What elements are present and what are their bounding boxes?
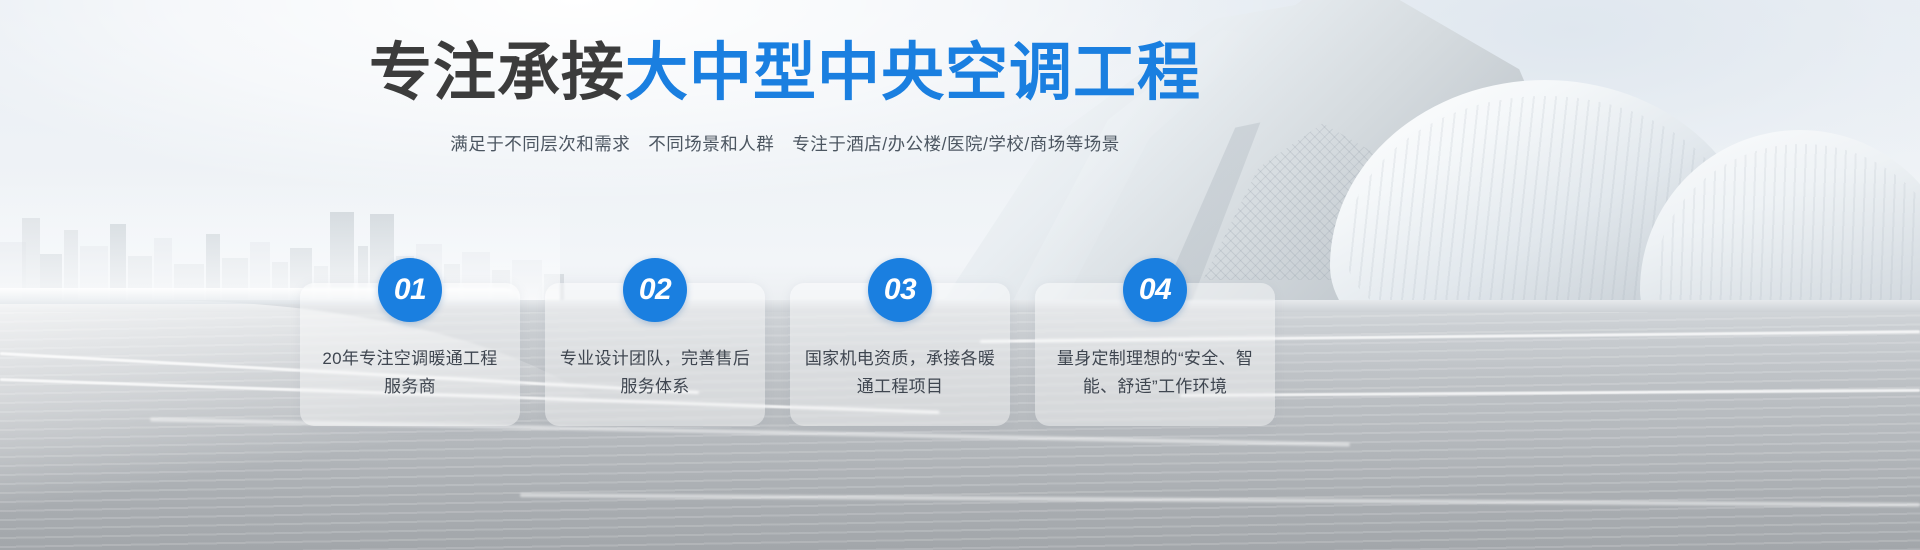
card-number-badge-01: 01: [378, 258, 442, 322]
card-text-03: 国家机电资质，承接各暖通工程项目: [804, 345, 996, 400]
feature-card-04[interactable]: 04 量身定制理想的“安全、智能、舒适”工作环境: [1035, 283, 1275, 426]
feature-card-01[interactable]: 01 20年专注空调暖通工程服务商: [300, 283, 520, 426]
headings-block: 专注承接大中型中央空调工程 满足于不同层次和需求 不同场景和人群 专注于酒店/办…: [0, 42, 1570, 156]
feature-card-03[interactable]: 03 国家机电资质，承接各暖通工程项目: [790, 283, 1010, 426]
page-title: 专注承接大中型中央空调工程: [0, 42, 1570, 105]
card-number-01: 01: [394, 275, 426, 305]
card-number-04: 04: [1139, 275, 1171, 305]
card-text-02: 专业设计团队，完善售后服务体系: [559, 345, 751, 400]
card-number-03: 03: [884, 275, 916, 305]
feature-card-02[interactable]: 02 专业设计团队，完善售后服务体系: [545, 283, 765, 426]
hero-banner: 专注承接大中型中央空调工程 满足于不同层次和需求 不同场景和人群 专注于酒店/办…: [0, 0, 1920, 550]
card-text-01: 20年专注空调暖通工程服务商: [314, 345, 506, 400]
card-number-02: 02: [639, 275, 671, 305]
title-blue-segment: 大中型中央空调工程: [625, 38, 1201, 108]
page-subtitle: 满足于不同层次和需求 不同场景和人群 专注于酒店/办公楼/医院/学校/商场等场景: [0, 131, 1570, 156]
card-number-badge-04: 04: [1123, 258, 1187, 322]
card-number-badge-03: 03: [868, 258, 932, 322]
feature-card-list: 01 20年专注空调暖通工程服务商 02 专业设计团队，完善售后服务体系 03 …: [300, 228, 1280, 428]
card-number-badge-02: 02: [623, 258, 687, 322]
title-dark-segment: 专注承接: [369, 38, 625, 108]
card-text-04: 量身定制理想的“安全、智能、舒适”工作环境: [1049, 345, 1261, 400]
